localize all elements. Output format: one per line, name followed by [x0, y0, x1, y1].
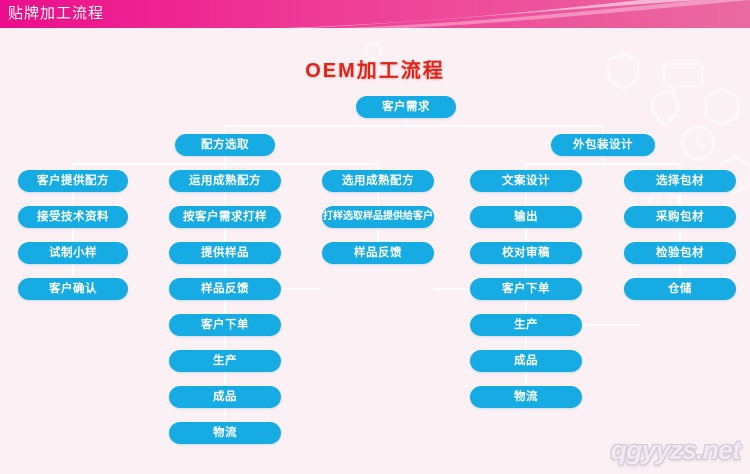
location-pin-icon [645, 88, 685, 130]
node-col3-0[interactable]: 选用成熟配方 [322, 170, 434, 192]
node-col4-6[interactable]: 物流 [470, 386, 582, 408]
node-col4-5[interactable]: 成品 [470, 350, 582, 372]
site-watermark: qgyyzs.net [610, 435, 740, 466]
node-col1-3[interactable]: 客户确认 [18, 278, 128, 300]
node-label: 生产 [514, 319, 538, 331]
node-label: 物流 [213, 427, 237, 439]
node-col4-4[interactable]: 生产 [470, 314, 582, 336]
node-col2-4[interactable]: 客户下单 [169, 314, 281, 336]
node-label: 检验包材 [656, 247, 704, 259]
node-col1-1[interactable]: 接受技术资料 [18, 206, 128, 228]
node-col2-3[interactable]: 样品反馈 [169, 278, 281, 300]
node-col2-0[interactable]: 运用成熟配方 [169, 170, 281, 192]
node-label: 客户确认 [49, 283, 97, 295]
node-col1-2[interactable]: 试制小样 [18, 242, 128, 264]
node-col2-7[interactable]: 物流 [169, 422, 281, 444]
node-col2-1[interactable]: 按客户需求打样 [169, 206, 281, 228]
node-label: 成品 [213, 391, 237, 403]
page-title: OEM加工流程 [0, 54, 750, 83]
node-col3-2[interactable]: 样品反馈 [322, 242, 434, 264]
node-label: 提供样品 [201, 247, 249, 259]
node-label: 样品反馈 [201, 283, 249, 295]
node-label: 运用成熟配方 [189, 175, 261, 187]
node-branch-formula[interactable]: 配方选取 [175, 134, 275, 156]
flowchart-page: 贴牌加工流程 OEM加工流程 [0, 0, 750, 474]
banner-shape [0, 0, 750, 28]
node-label: 输出 [514, 211, 538, 223]
node-label: 试制小样 [49, 247, 97, 259]
node-label: 成品 [514, 355, 538, 367]
node-label: 选用成熟配方 [342, 175, 414, 187]
node-col2-5[interactable]: 生产 [169, 350, 281, 372]
hexagon-icon [700, 84, 744, 130]
node-col4-1[interactable]: 输出 [470, 206, 582, 228]
node-col3-1[interactable]: 打样选取样品提供给客户 [322, 206, 434, 228]
node-label: 打样选取样品提供给客户 [323, 211, 433, 222]
banner-title: 贴牌加工流程 [8, 4, 104, 24]
node-label: 样品反馈 [354, 247, 402, 259]
node-col4-2[interactable]: 校对审稿 [470, 242, 582, 264]
node-root[interactable]: 客户需求 [356, 96, 456, 118]
node-label: 文案设计 [502, 175, 550, 187]
node-col5-3[interactable]: 仓储 [624, 278, 736, 300]
node-label: 物流 [514, 391, 538, 403]
node-label: 仓储 [668, 283, 692, 295]
node-col5-1[interactable]: 采购包材 [624, 206, 736, 228]
node-col2-6[interactable]: 成品 [169, 386, 281, 408]
node-col2-2[interactable]: 提供样品 [169, 242, 281, 264]
node-col5-2[interactable]: 检验包材 [624, 242, 736, 264]
node-label: 校对审稿 [502, 247, 550, 259]
node-label: 生产 [213, 355, 237, 367]
node-col1-0[interactable]: 客户提供配方 [18, 170, 128, 192]
node-label: 配方选取 [201, 139, 249, 151]
node-col4-0[interactable]: 文案设计 [470, 170, 582, 192]
node-label: 客户需求 [382, 101, 430, 113]
node-label: 接受技术资料 [37, 211, 109, 223]
header-banner: 贴牌加工流程 [0, 0, 750, 28]
node-label: 外包装设计 [573, 139, 633, 151]
node-col4-3[interactable]: 客户下单 [470, 278, 582, 300]
clock-icon [676, 120, 720, 166]
node-label: 选择包材 [656, 175, 704, 187]
node-label: 采购包材 [656, 211, 704, 223]
node-branch-packaging[interactable]: 外包装设计 [551, 134, 655, 156]
node-col5-0[interactable]: 选择包材 [624, 170, 736, 192]
node-label: 按客户需求打样 [183, 211, 267, 223]
node-label: 客户下单 [502, 283, 550, 295]
node-label: 客户下单 [201, 319, 249, 331]
node-label: 客户提供配方 [37, 175, 109, 187]
